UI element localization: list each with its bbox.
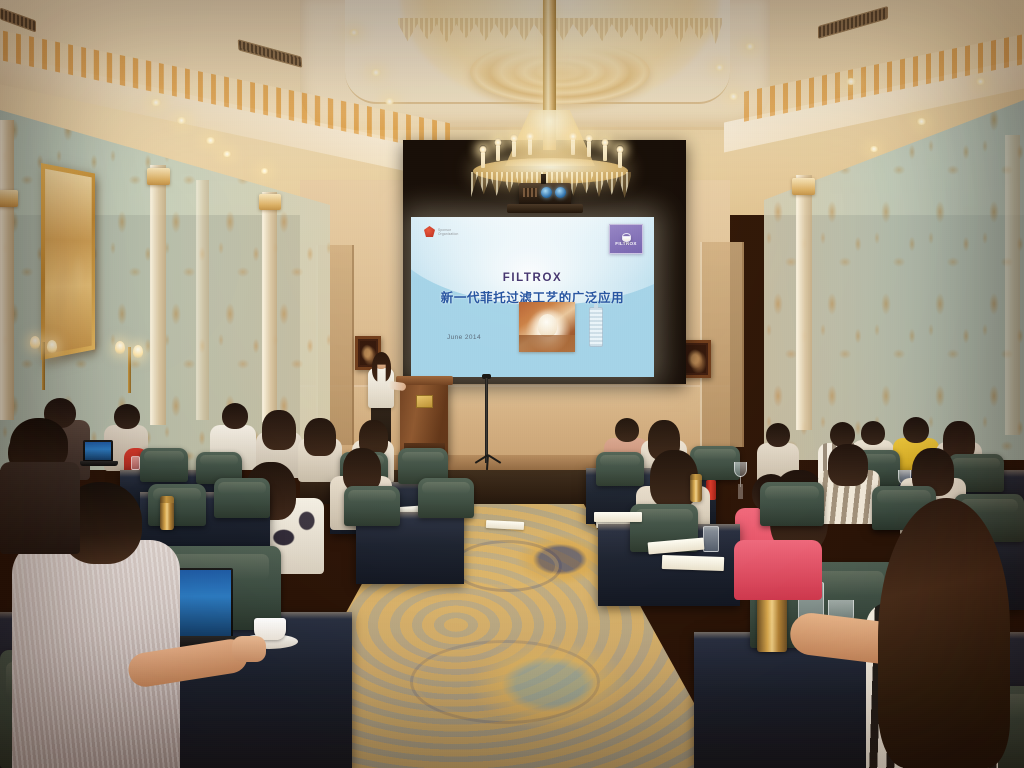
downlight (176, 117, 187, 124)
water-glass[interactable] (703, 526, 719, 552)
pilaster-capital (147, 168, 170, 185)
wall-sconce-right (112, 337, 148, 393)
handout-paper[interactable] (662, 555, 724, 571)
downlight (260, 168, 269, 174)
downlight (222, 151, 232, 157)
downlight (348, 29, 360, 36)
chair-mid-3 (344, 486, 400, 526)
pilaster (0, 120, 14, 420)
chandelier-candle (512, 141, 516, 157)
downlight (384, 98, 395, 105)
carpet-medallion (452, 540, 562, 592)
chandelier-candle (587, 141, 591, 157)
slide-brand-title: FILTROX (411, 272, 654, 284)
slide-sponsor-logo: Sponsor Organization (424, 226, 458, 237)
sponsor-mark-icon (424, 226, 435, 237)
downlight (205, 137, 216, 144)
handout-paper[interactable] (594, 512, 642, 522)
projector-vent (523, 188, 537, 197)
downlight (728, 93, 739, 100)
pilaster (196, 180, 209, 420)
chair-mid-1 (148, 484, 206, 526)
projector-lens (555, 187, 566, 198)
downlight (744, 43, 756, 50)
pilaster (1005, 135, 1020, 435)
conference-hall-photo: Sponsor Organization FILTROX FILTROX 新一代… (0, 0, 1024, 768)
downlight (975, 78, 986, 85)
filtrox-cup-icon (622, 236, 631, 242)
chair-mid-2 (214, 478, 270, 518)
chandelier-candle (496, 145, 500, 161)
downlight (714, 64, 725, 71)
projector-lens (541, 187, 552, 198)
chair-back-1 (140, 448, 188, 482)
hvac-grille-right (818, 6, 888, 39)
chandelier-candle (528, 139, 532, 155)
slide-date: June 2014 (447, 334, 481, 341)
filtrox-logo: FILTROX (609, 224, 643, 254)
chandelier-candle (603, 145, 607, 161)
striped-woman-hair (878, 498, 1010, 768)
microphone-tripod-legs (466, 455, 508, 469)
carpet-medallion (410, 640, 600, 724)
downlight (916, 118, 927, 125)
projector-base-plate (507, 204, 583, 213)
hvac-grille-center (238, 39, 303, 68)
thermos-flask[interactable] (690, 474, 702, 502)
laptop-back-left-base[interactable] (80, 461, 118, 466)
laptop-man-hand (232, 636, 266, 662)
painting-canvas (45, 169, 92, 354)
laptop-back-left-screen[interactable] (83, 440, 113, 462)
pilaster (150, 165, 166, 425)
chandelier-candle (618, 152, 622, 168)
downlight (150, 99, 162, 106)
lectern-plaque (416, 395, 433, 408)
pilaster-capital (0, 190, 18, 207)
chair-back-5 (596, 452, 644, 486)
pilaster-capital (259, 194, 281, 210)
pilaster (796, 175, 812, 430)
chandelier-candle (481, 152, 485, 168)
wine-glass[interactable] (734, 462, 747, 477)
chair-mid-4 (418, 478, 474, 518)
downlight (370, 69, 382, 76)
slide-product-photo (519, 302, 575, 352)
water-glass[interactable] (131, 456, 140, 470)
chandelier-candle (571, 139, 575, 155)
presentation-slide: Sponsor Organization FILTROX FILTROX 新一代… (411, 217, 654, 377)
sponsor-logo-line2: Organization (438, 232, 458, 236)
downlight (869, 146, 879, 152)
pilaster (262, 192, 277, 422)
thermos-flask[interactable] (160, 496, 174, 530)
ceiling-projector (519, 183, 571, 206)
chair-mid-6 (760, 482, 824, 526)
pilaster-capital (792, 178, 815, 195)
microphone-stand (485, 378, 488, 463)
projection-screen: Sponsor Organization FILTROX FILTROX 新一代… (411, 217, 654, 377)
downlight (845, 78, 857, 85)
projector-mount-arm (541, 174, 546, 184)
slide-filter-module-graphic (589, 307, 603, 347)
wall-sconce-left (28, 330, 62, 390)
hvac-grille-left (0, 7, 36, 32)
